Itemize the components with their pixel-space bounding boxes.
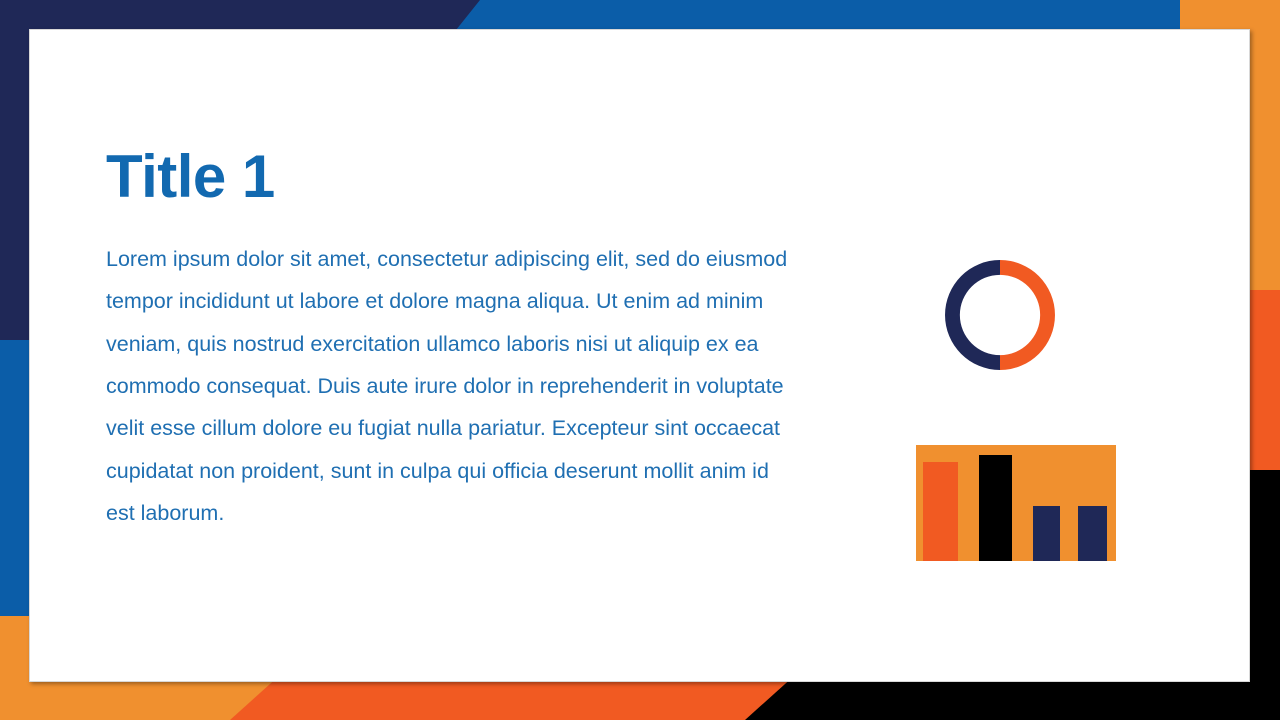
bar-chart bbox=[916, 445, 1116, 561]
charts-column bbox=[910, 230, 1140, 590]
slide-card: Title 1 Lorem ipsum dolor sit amet, cons… bbox=[29, 29, 1250, 682]
bar-4 bbox=[1078, 506, 1107, 561]
bar-3 bbox=[1033, 506, 1060, 561]
slide: Title 1 Lorem ipsum dolor sit amet, cons… bbox=[0, 0, 1280, 720]
text-column: Title 1 Lorem ipsum dolor sit amet, cons… bbox=[106, 145, 806, 534]
donut-slice-1 bbox=[1000, 260, 1055, 370]
body-paragraph: Lorem ipsum dolor sit amet, consectetur … bbox=[106, 238, 801, 534]
donut-chart bbox=[935, 250, 1065, 385]
donut-slice-2 bbox=[945, 260, 1000, 370]
bar-1 bbox=[923, 462, 958, 561]
page-title: Title 1 bbox=[106, 145, 806, 208]
bar-2 bbox=[979, 455, 1012, 561]
